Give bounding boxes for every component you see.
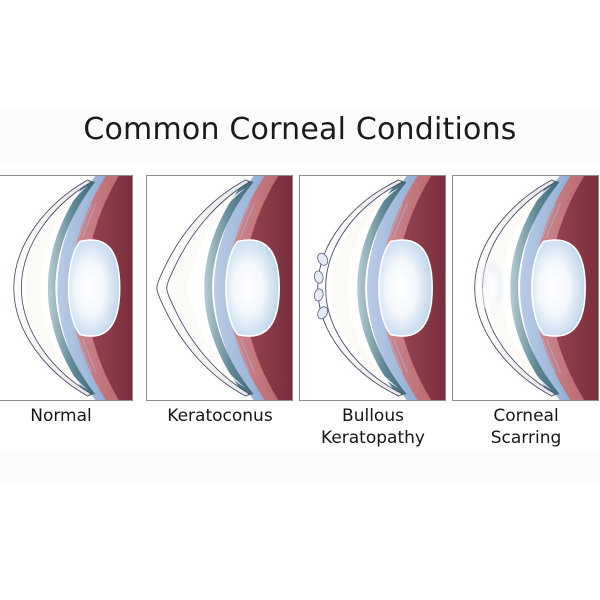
- eye-diagram-normal: [0, 176, 132, 400]
- label-corneal-scarring: Corneal Scarring: [452, 403, 600, 451]
- page-title: Common Corneal Conditions: [0, 112, 600, 147]
- illustration-root: Common Corneal Conditions: [0, 0, 600, 600]
- crystalline-lens: [69, 240, 120, 336]
- label-line-1: Keratoconus: [150, 405, 290, 427]
- panel-normal[interactable]: [0, 175, 133, 401]
- panel-corneal-scarring[interactable]: [452, 175, 599, 401]
- footer-background-band: [0, 450, 600, 482]
- label-keratoconus: Keratoconus: [146, 403, 294, 429]
- crystalline-lens: [532, 240, 585, 336]
- panel-bullous-keratopathy[interactable]: [299, 175, 446, 401]
- label-line-2: Scarring: [456, 427, 596, 449]
- label-line-1: Bullous: [303, 405, 443, 427]
- label-bullous-keratopathy: Bullous Keratopathy: [299, 403, 447, 451]
- label-line-1: Corneal: [456, 405, 596, 427]
- label-line-1: Normal: [4, 405, 118, 427]
- crystalline-lens: [226, 240, 279, 336]
- eye-diagram-bullous-keratopathy: [300, 176, 445, 400]
- panel-strip: [0, 175, 600, 401]
- label-normal: Normal: [0, 403, 122, 429]
- eye-diagram-corneal-scarring: [453, 176, 598, 400]
- crystalline-lens: [379, 240, 432, 336]
- label-line-2: Keratopathy: [303, 427, 443, 449]
- panel-keratoconus[interactable]: [146, 175, 293, 401]
- eye-diagram-keratoconus: [147, 176, 292, 400]
